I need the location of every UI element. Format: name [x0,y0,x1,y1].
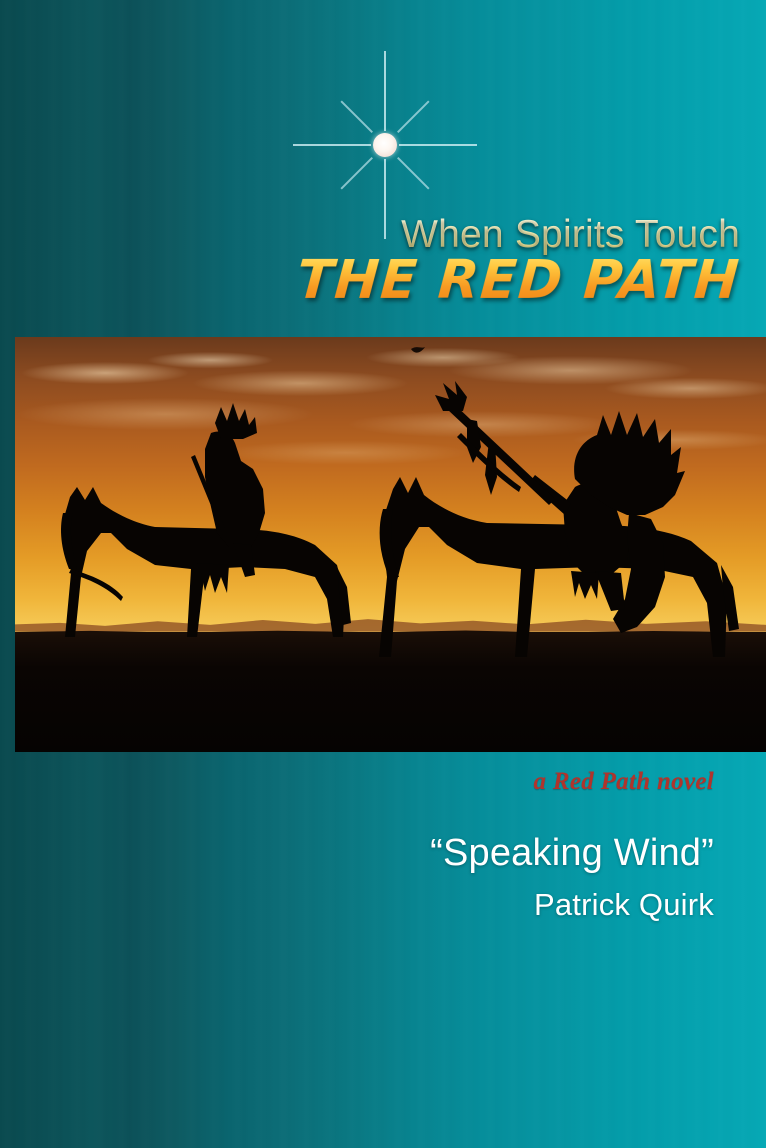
left-horse-and-rider-silhouette [61,403,351,637]
star-ray-southeast [397,157,430,190]
star-ray-northeast [397,100,430,133]
star-ray-southwest [340,157,373,190]
title-block: When Spirits Touch THE RED PATH [0,215,740,307]
book-cover: When Spirits Touch THE RED PATH [0,0,766,1148]
pen-name: “Speaking Wind” [0,832,714,875]
author-block: “Speaking Wind” Patrick Quirk [0,832,714,923]
star-ray-north [384,51,386,131]
star-core [373,133,397,157]
cover-photograph [15,337,766,752]
star-ray-northwest [340,100,373,133]
series-note-block: a Red Path novel [0,768,714,796]
author-name: Patrick Quirk [0,887,714,923]
series-note: a Red Path novel [0,768,714,796]
star-ray-east [399,144,477,146]
rider-silhouettes [15,337,766,752]
distant-bird-silhouette [411,347,425,353]
star-ray-west [293,144,371,146]
right-horse-and-rider-silhouette [379,381,739,657]
book-title-series: THE RED PATH [0,254,742,307]
